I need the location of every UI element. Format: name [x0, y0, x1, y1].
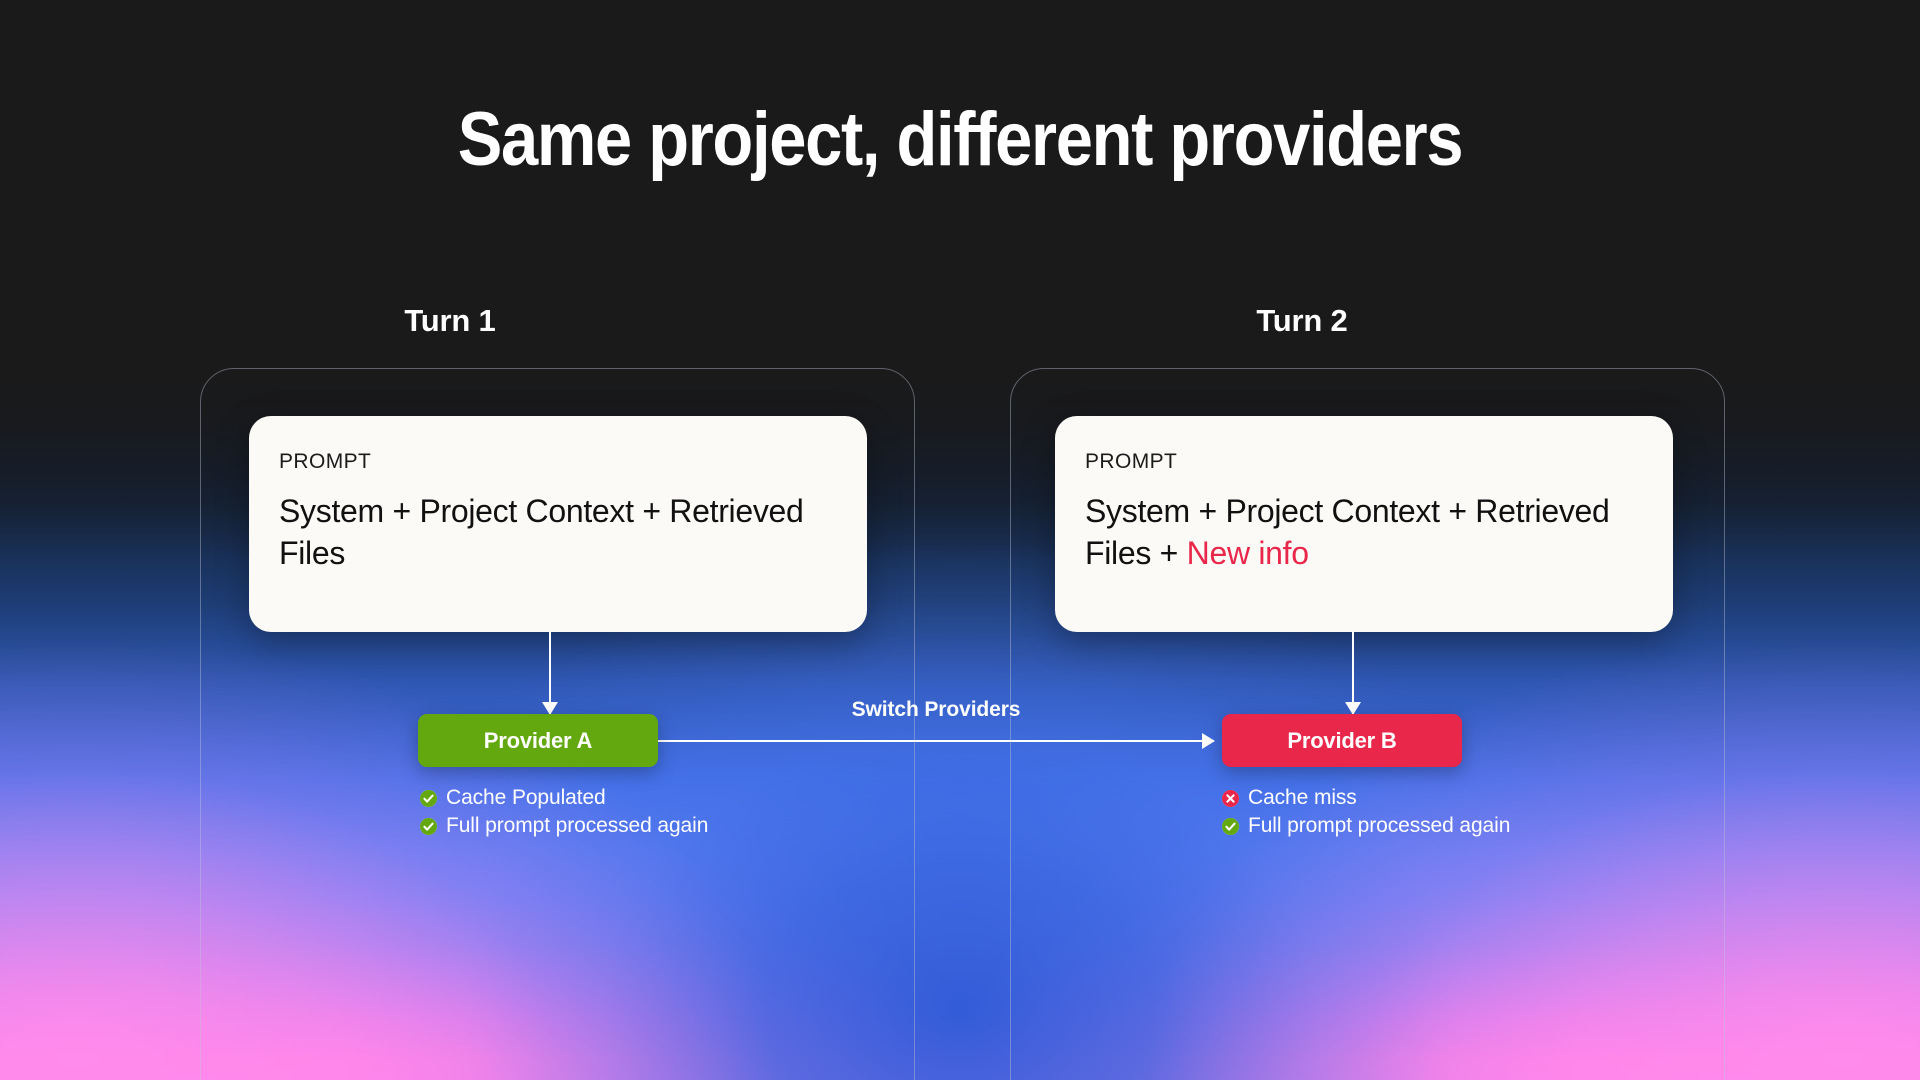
status-list-turn-2: Cache miss Full prompt processed again: [1222, 786, 1510, 838]
provider-a-label: Provider A: [484, 728, 592, 754]
connector-line: [658, 740, 1214, 742]
arrow-right-icon: [1202, 733, 1215, 749]
prompt-text-highlight-2: New info: [1187, 535, 1309, 571]
status-label: Full prompt processed again: [1248, 814, 1510, 838]
prompt-text-base-2: System + Project Context + Retrieved Fil…: [1085, 493, 1610, 571]
check-circle-icon: [420, 790, 437, 807]
prompt-card-turn-1: PROMPT System + Project Context + Retrie…: [249, 416, 867, 632]
provider-b-label: Provider B: [1287, 728, 1396, 754]
provider-a-button[interactable]: Provider A: [418, 714, 658, 767]
status-item: Full prompt processed again: [1222, 814, 1510, 838]
status-label: Cache Populated: [446, 786, 606, 810]
turn-label-2: Turn 2: [1192, 303, 1412, 339]
x-circle-icon: [1222, 790, 1239, 807]
prompt-kicker-2: PROMPT: [1085, 450, 1643, 474]
prompt-body-2: System + Project Context + Retrieved Fil…: [1085, 491, 1643, 574]
status-list-turn-1: Cache Populated Full prompt processed ag…: [420, 786, 708, 838]
turn-label-1: Turn 1: [340, 303, 560, 339]
prompt-card-turn-2: PROMPT System + Project Context + Retrie…: [1055, 416, 1673, 632]
prompt-text-base-1: System + Project Context + Retrieved Fil…: [279, 493, 804, 571]
slide-canvas: Same project, different providers Turn 1…: [0, 0, 1920, 1080]
status-item: Cache Populated: [420, 786, 708, 810]
connector-arrow-down-2: [1340, 632, 1366, 714]
switch-providers-label: Switch Providers: [658, 698, 1214, 722]
switch-providers-connector: [658, 733, 1214, 749]
connector-arrow-down-1: [537, 632, 563, 714]
prompt-body-1: System + Project Context + Retrieved Fil…: [279, 491, 837, 574]
check-circle-icon: [1222, 818, 1239, 835]
prompt-kicker-1: PROMPT: [279, 450, 837, 474]
provider-b-button[interactable]: Provider B: [1222, 714, 1462, 767]
status-item: Cache miss: [1222, 786, 1510, 810]
status-item: Full prompt processed again: [420, 814, 708, 838]
status-label: Cache miss: [1248, 786, 1357, 810]
status-label: Full prompt processed again: [446, 814, 708, 838]
page-title: Same project, different providers: [115, 96, 1805, 183]
check-circle-icon: [420, 818, 437, 835]
